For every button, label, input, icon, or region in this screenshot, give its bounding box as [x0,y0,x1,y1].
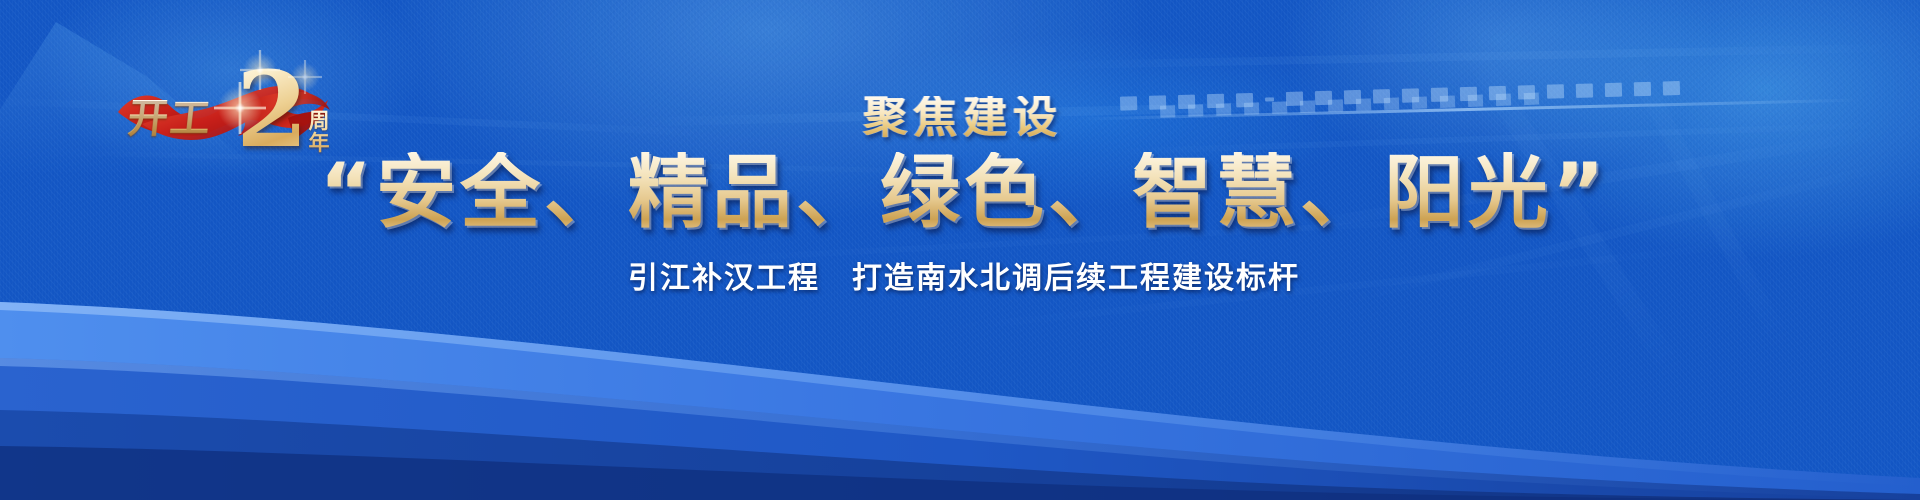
headline-block: 聚焦建设 “安全、精品、绿色、智慧、阳光” 引江补汉工程 打造南水北调后续工程建… [0,96,1920,294]
banner-subtitle: 引江补汉工程 打造南水北调后续工程建设标杆 [0,264,1920,294]
eyebrow-title: 聚焦建设 [0,96,1920,140]
main-headline: “安全、精品、绿色、智慧、阳光” [0,152,1920,234]
promo-banner: 开工 2 周年 聚焦建设 “安全、精品、绿色、智慧、阳光” 引江补汉工程 打造南… [0,0,1920,500]
